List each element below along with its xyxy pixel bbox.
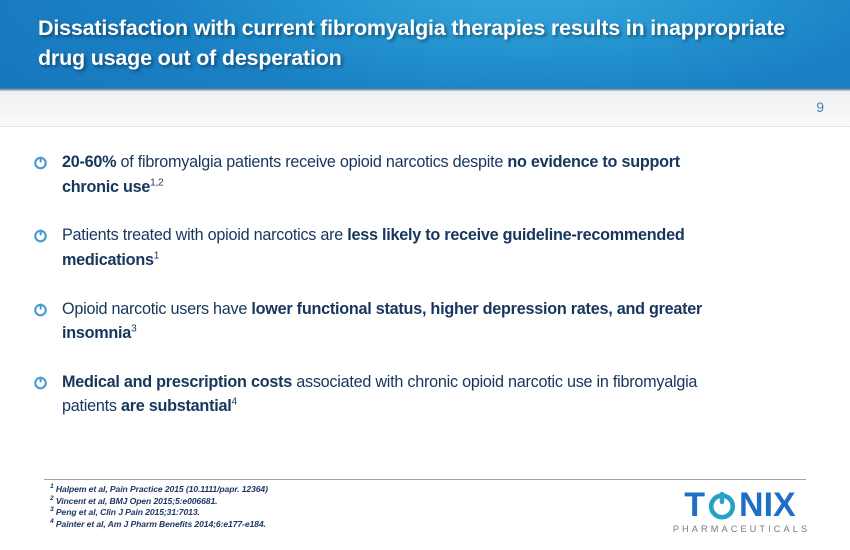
bullet-text: Opioid narcotic users have lower functio…	[62, 297, 730, 346]
footnote-reference: 3	[131, 324, 136, 335]
logo-subtitle: PHARMACEUTICALS	[652, 524, 828, 534]
bullet-row: Opioid narcotic users have lower functio…	[0, 297, 850, 346]
footnote-divider	[44, 479, 806, 480]
bullet-row: 20-60% of fibromyalgia patients receive …	[0, 150, 850, 199]
slide: Dissatisfaction with current fibromyalgi…	[0, 0, 850, 550]
footnote-reference: 1,2	[150, 177, 163, 188]
footnote-item: 2 Vincent et al, BMJ Open 2015;5:e006681…	[50, 496, 520, 508]
footnote-text: Peng et al, Clin J Pain 2015;31:7013.	[54, 507, 200, 517]
bullet-emphasis: are substantial	[121, 397, 232, 415]
footnote-item: 1 Halpem et al, Pain Practice 2015 (10.1…	[50, 484, 520, 496]
tonix-logo: T NIX PHARMACEUTICALS	[652, 487, 828, 534]
page-title: Dissatisfaction with current fibromyalgi…	[38, 14, 790, 73]
slide-header: Dissatisfaction with current fibromyalgi…	[0, 0, 850, 90]
bullet-text: Patients treated with opioid narcotics a…	[62, 223, 730, 272]
footnote-text: Painter et al, Am J Pharm Benefits 2014;…	[54, 519, 266, 529]
footnote-item: 4 Painter et al, Am J Pharm Benefits 201…	[50, 519, 520, 531]
footnote-item: 3 Peng et al, Clin J Pain 2015;31:7013.	[50, 507, 520, 519]
bullet-row: Patients treated with opioid narcotics a…	[0, 223, 850, 272]
bullet-text: Medical and prescription costs associate…	[62, 370, 730, 419]
power-bullet-icon	[33, 302, 48, 317]
bullet-text: 20-60% of fibromyalgia patients receive …	[62, 150, 730, 199]
bullet-plain: Opioid narcotic users have	[62, 300, 251, 318]
footnote-reference: 1	[154, 250, 159, 261]
power-symbol-icon	[707, 490, 737, 520]
band-rule	[0, 126, 850, 127]
bullet-list: 20-60% of fibromyalgia patients receive …	[0, 150, 850, 443]
page-number: 9	[816, 99, 824, 115]
power-bullet-icon	[33, 375, 48, 390]
logo-letters-nix: NIX	[739, 488, 796, 522]
footnote-reference: 4	[231, 397, 236, 408]
footnote-list: 1 Halpem et al, Pain Practice 2015 (10.1…	[50, 484, 520, 531]
power-bullet-icon	[33, 155, 48, 170]
bullet-emphasis: Medical and prescription costs	[62, 373, 292, 391]
bullet-plain: Patients treated with opioid narcotics a…	[62, 226, 347, 244]
bullet-emphasis: 20-60%	[62, 153, 116, 171]
page-number-band	[0, 91, 850, 126]
footnote-text: Halpem et al, Pain Practice 2015 (10.111…	[54, 484, 268, 494]
logo-letter-t: T	[684, 488, 705, 522]
footnote-text: Vincent et al, BMJ Open 2015;5:e006681.	[54, 496, 218, 506]
logo-wordmark: T NIX	[652, 487, 828, 523]
bullet-plain: of fibromyalgia patients receive opioid …	[116, 153, 507, 171]
power-bullet-icon	[33, 228, 48, 243]
bullet-row: Medical and prescription costs associate…	[0, 370, 850, 419]
